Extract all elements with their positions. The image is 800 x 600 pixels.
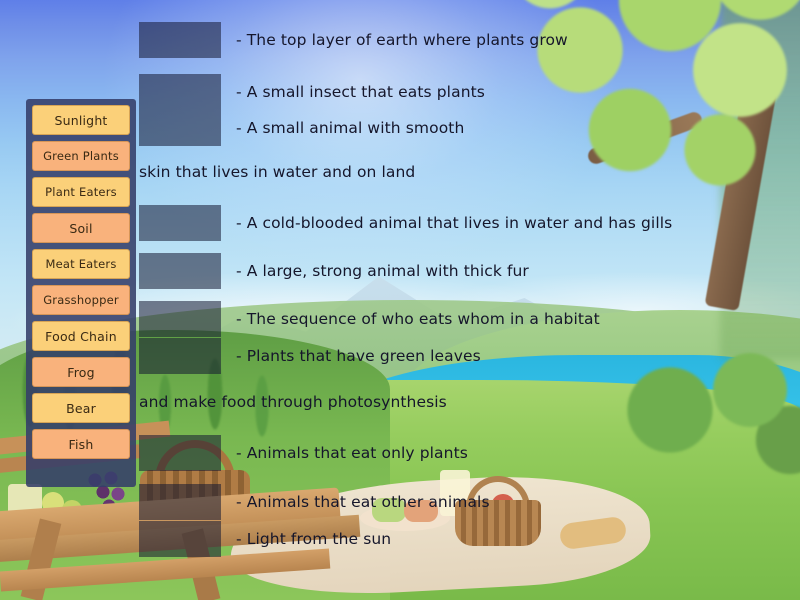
definition-text-wrapped: and make food through photosynthesis <box>139 393 447 411</box>
definition-text: - The sequence of who eats whom in a hab… <box>236 301 600 337</box>
answer-dropzone[interactable] <box>139 205 221 241</box>
definition-text: - A large, strong animal with thick fur <box>236 253 529 289</box>
word-tile-sunlight[interactable]: Sunlight <box>32 105 130 135</box>
word-bank-panel: SunlightGreen PlantsPlant EatersSoilMeat… <box>26 99 136 487</box>
word-tile-green-plants[interactable]: Green Plants <box>32 141 130 171</box>
answer-dropzone[interactable] <box>139 74 221 110</box>
answer-dropzone[interactable] <box>139 110 221 146</box>
definition-text: - Light from the sun <box>236 521 391 557</box>
word-tile-fish[interactable]: Fish <box>32 429 130 459</box>
answer-dropzone[interactable] <box>139 521 221 557</box>
answer-dropzone[interactable] <box>139 338 221 374</box>
answer-dropzone[interactable] <box>139 435 221 471</box>
definition-text-wrapped: skin that lives in water and on land <box>139 163 415 181</box>
definition-text: - A cold-blooded animal that lives in wa… <box>236 205 672 241</box>
definition-text: - Animals that eat other animals <box>236 484 490 520</box>
word-tile-meat-eaters[interactable]: Meat Eaters <box>32 249 130 279</box>
word-tile-bear[interactable]: Bear <box>32 393 130 423</box>
definition-text: - The top layer of earth where plants gr… <box>236 22 568 58</box>
answer-dropzone[interactable] <box>139 253 221 289</box>
word-tile-grasshopper[interactable]: Grasshopper <box>32 285 130 315</box>
word-tile-frog[interactable]: Frog <box>32 357 130 387</box>
answer-dropzone[interactable] <box>139 484 221 520</box>
definition-text: - Plants that have green leaves <box>236 338 481 374</box>
word-tile-soil[interactable]: Soil <box>32 213 130 243</box>
definition-text: - Animals that eat only plants <box>236 435 468 471</box>
definition-text: - A small insect that eats plants <box>236 74 485 110</box>
word-tile-plant-eaters[interactable]: Plant Eaters <box>32 177 130 207</box>
word-tile-food-chain[interactable]: Food Chain <box>32 321 130 351</box>
answer-dropzone[interactable] <box>139 22 221 58</box>
definition-text: - A small animal with smooth <box>236 110 464 146</box>
answer-dropzone[interactable] <box>139 301 221 337</box>
